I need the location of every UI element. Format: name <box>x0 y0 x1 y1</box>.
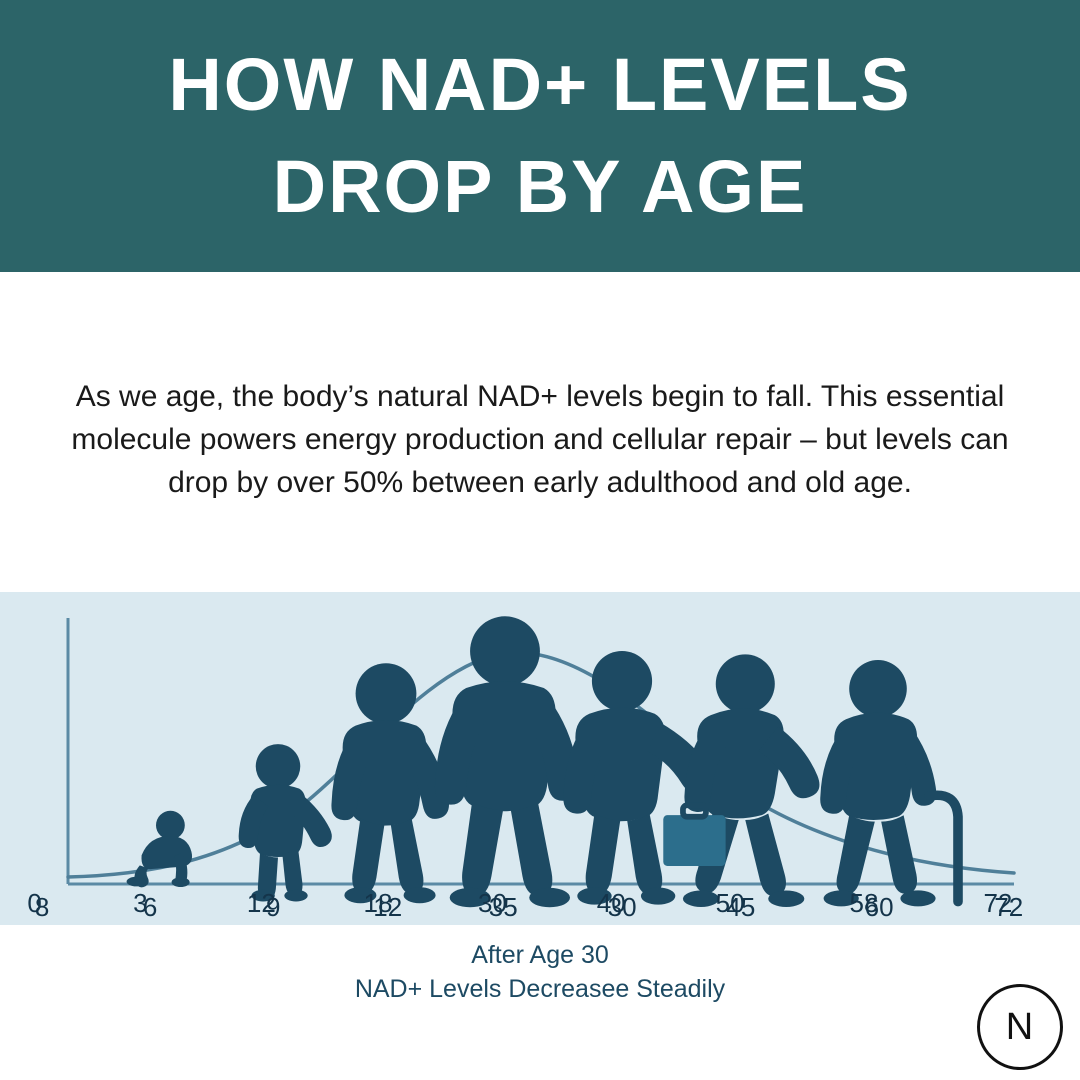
caption-line-2: NAD+ Levels Decreasee Steadily <box>0 972 1080 1006</box>
brand-logo: N <box>977 984 1063 1070</box>
caption-line-1: After Age 30 <box>0 938 1080 972</box>
figure-elder-with-cane <box>820 660 958 906</box>
page-title-line-1: HOW NAD+ LEVELS <box>168 34 911 136</box>
chart-caption: After Age 30 NAD+ Levels Decreasee Stead… <box>0 938 1080 1006</box>
briefcase-icon <box>663 815 725 866</box>
x-tick-secondary: 9 <box>266 892 280 923</box>
brand-logo-letter: N <box>1006 1006 1034 1049</box>
cane-icon <box>929 795 958 901</box>
x-tick-secondary: 12 <box>373 892 402 923</box>
header-banner: HOW NAD+ LEVELS DROP BY AGE <box>0 0 1080 272</box>
x-tick-secondary: 8 <box>35 892 49 923</box>
intro-paragraph: As we age, the body’s natural NAD+ level… <box>60 375 1020 505</box>
x-tick-secondary: 45 <box>726 892 755 923</box>
figure-teen <box>331 663 449 903</box>
x-tick-secondary: 72 <box>994 892 1023 923</box>
x-tick-secondary: 35 <box>489 892 518 923</box>
x-tick-secondary: 30 <box>608 892 637 923</box>
x-tick-secondary: 6 <box>143 892 157 923</box>
chart-graphic <box>0 592 1080 925</box>
x-tick-secondary: 60 <box>865 892 894 923</box>
figure-toddler <box>239 744 332 901</box>
figure-crawling-baby <box>127 811 192 888</box>
nad-decline-chart: 0 8 3 6 12 9 18 12 30 35 40 30 50 45 58 … <box>0 592 1080 925</box>
page-title-line-2: DROP BY AGE <box>273 136 808 238</box>
figure-adult-with-briefcase <box>663 654 819 907</box>
